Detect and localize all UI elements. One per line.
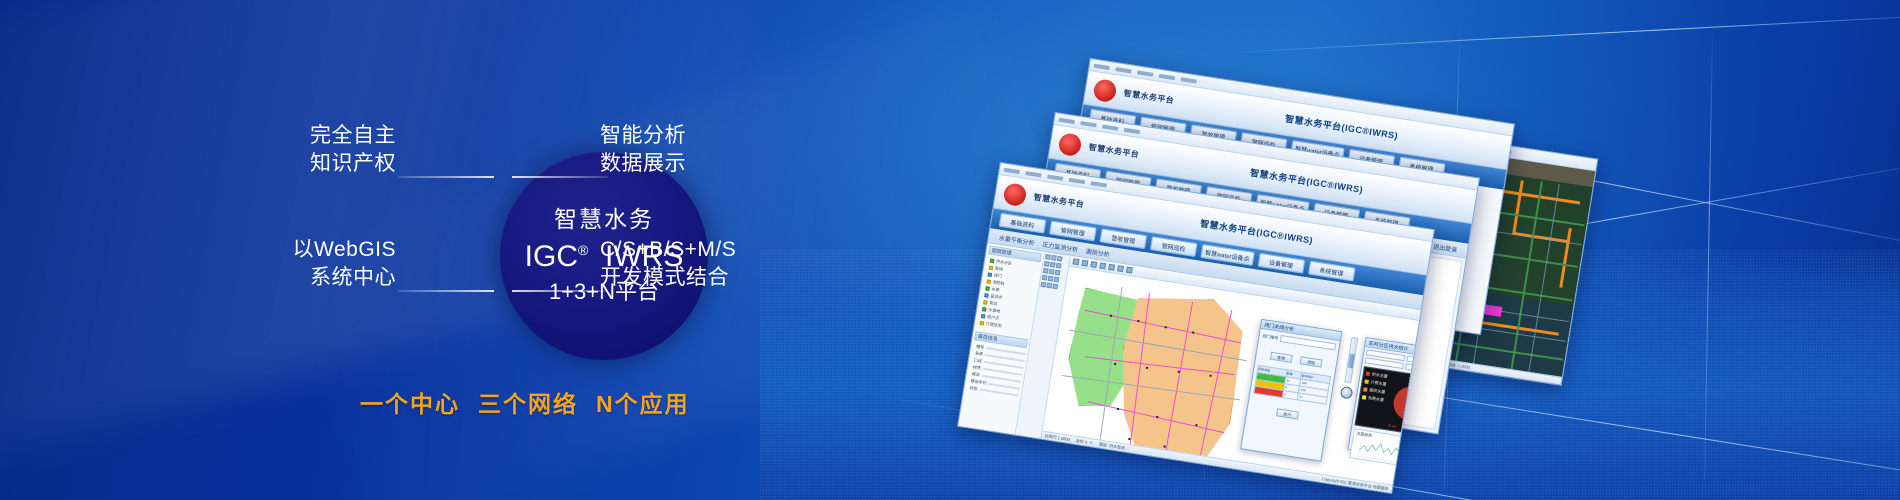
connector-top-left (398, 176, 494, 178)
grid-line-h5 (1230, 15, 1900, 53)
layer-label: 行政区划 (986, 320, 1003, 328)
map-open-icon[interactable] (1081, 260, 1088, 267)
legend-label: 免费水量 (1368, 395, 1385, 403)
zoom-slider-thumb[interactable] (1348, 354, 1355, 369)
map-query-icon[interactable] (1099, 263, 1106, 270)
zoom-in-icon[interactable] (1051, 255, 1057, 261)
legend-swatch (1364, 379, 1369, 384)
mid-brand-name: 智慧水务平台 (1088, 142, 1140, 161)
link-logout[interactable]: 退出登录 (1433, 241, 1458, 254)
spoke-label-bottom-right: C/S+B/S+M/S 开发模式结合 (600, 236, 736, 291)
chart-flow-svg (1350, 437, 1419, 470)
spoke-bottom-right-line2: 开发模式结合 (600, 264, 736, 292)
banner-root: 智慧水务 IGC® IWRS 1+3+N平台 完全自主 知识产权 以WebGIS… (0, 0, 1900, 500)
map-save-icon[interactable] (1090, 261, 1097, 268)
identify-icon[interactable] (1056, 263, 1062, 269)
pan-icon[interactable] (1045, 254, 1051, 260)
layer-swatch-icon (982, 307, 987, 312)
legend-swatch (1363, 387, 1368, 392)
pan-compass-icon[interactable] (1340, 386, 1354, 400)
menu-item-tools[interactable] (1159, 73, 1175, 79)
gauge-left-percent: 45.1% (1388, 423, 1397, 428)
measure-icon[interactable] (1050, 262, 1056, 268)
menu-item-help[interactable] (1181, 77, 1197, 83)
refresh-icon[interactable] (1048, 276, 1054, 282)
map-report-icon[interactable] (1126, 267, 1133, 274)
connector-top-right (512, 176, 608, 178)
legend-swatch (1362, 395, 1367, 400)
layer-swatch-icon (980, 320, 985, 325)
map-node[interactable] (1178, 371, 1180, 373)
satellite-status-zoom: 缩放: 1:2000 (1447, 361, 1470, 370)
connector-bottom-right (512, 290, 608, 292)
spoke-top-left-line2: 知识产权 (236, 150, 396, 178)
front-brand-name: 智慧水务平台 (1033, 192, 1085, 211)
layer-swatch-icon (990, 258, 995, 263)
layer-icon[interactable] (1043, 268, 1049, 274)
map-locate-icon[interactable] (1108, 264, 1115, 271)
map-node[interactable] (1137, 320, 1139, 322)
menu-item-tools[interactable] (1124, 127, 1140, 133)
spoke-top-right-line2: 数据展示 (600, 150, 686, 178)
company-logo-icon (1002, 182, 1027, 207)
map-node[interactable] (1117, 408, 1119, 410)
registered-mark-icon: ® (578, 242, 588, 258)
map-node[interactable] (1146, 367, 1148, 369)
menu-item-file[interactable] (1004, 167, 1020, 173)
menu-item-file[interactable] (1094, 63, 1110, 69)
layer-swatch-icon (983, 300, 988, 305)
hub-title-cn: 智慧水务 (554, 205, 654, 234)
map-new-icon[interactable] (1073, 258, 1080, 265)
map-node[interactable] (1165, 326, 1167, 328)
legend-label: 供水总量 (1371, 371, 1388, 379)
layer-swatch-icon (984, 293, 989, 298)
map-node[interactable] (1156, 416, 1158, 418)
back-brand-name: 智慧水务平台 (1123, 88, 1175, 107)
dialog-execute-button[interactable]: 执行 (1276, 408, 1299, 419)
menu-item-view[interactable] (1047, 174, 1063, 180)
legend-swatch (1366, 371, 1371, 376)
slogan-part-3: N个应用 (596, 391, 690, 417)
menu-item-file[interactable] (1059, 117, 1075, 123)
menu-item-edit[interactable] (1115, 67, 1131, 73)
slogan-part-1: 一个中心 (360, 391, 460, 417)
status-scale: 比例尺 1:5000 (1044, 433, 1070, 443)
map-node[interactable] (1192, 331, 1194, 333)
dialog-clear-button[interactable]: 清除 (1300, 356, 1323, 367)
status-coordinates: 坐标 X: Y: (1075, 437, 1093, 446)
company-logo-icon (1057, 132, 1082, 157)
subnav-item-0[interactable]: 水量平衡分析 (998, 232, 1035, 246)
spoke-top-right-line1: 智能分析 (600, 122, 686, 150)
alarm-icon[interactable] (1052, 284, 1058, 290)
menu-item-view[interactable] (1102, 124, 1118, 130)
menu-item-edit[interactable] (1080, 121, 1096, 127)
layer-swatch-icon (989, 265, 994, 270)
zoom-out-icon[interactable] (1057, 256, 1063, 262)
map-analysis-icon[interactable] (1117, 265, 1124, 272)
route-icon[interactable] (1041, 282, 1047, 288)
bookmark-icon[interactable] (1042, 275, 1048, 281)
slogan-part-2: 三个网络 (478, 391, 578, 417)
spoke-bottom-left-line1: 以WebGIS (236, 236, 396, 264)
subnav-item-1[interactable]: 压力监测分析 (1042, 239, 1079, 253)
menu-item-window[interactable] (1091, 181, 1107, 187)
map-node[interactable] (1110, 315, 1112, 317)
map-node[interactable] (1128, 438, 1130, 440)
menu-item-view[interactable] (1137, 70, 1153, 76)
label-icon[interactable] (1049, 269, 1055, 275)
row-count: 3 (1282, 391, 1298, 400)
tool-group[interactable] (1041, 282, 1065, 290)
spoke-label-top-left: 完全自主 知识产权 (236, 122, 396, 177)
property-label: 状态 (969, 385, 978, 392)
spoke-top-left-line1: 完全自主 (236, 122, 396, 150)
map-node[interactable] (1209, 375, 1211, 377)
company-logo-icon (1092, 78, 1117, 103)
layer-swatch-icon (981, 313, 986, 318)
spoke-label-bottom-left: 以WebGIS 系统中心 (236, 236, 396, 291)
layer-swatch-icon (988, 272, 993, 277)
menu-item-edit[interactable] (1025, 171, 1041, 177)
menu-item-tools[interactable] (1069, 177, 1085, 183)
map-node[interactable] (1195, 424, 1197, 426)
hub-title-en-igc: IGC (525, 240, 578, 273)
spoke-bottom-left-line2: 系统中心 (236, 264, 396, 292)
map-node[interactable] (1163, 445, 1165, 447)
zoom-slider[interactable] (1344, 337, 1358, 383)
spoke-label-top-right: 智能分析 数据展示 (600, 122, 686, 177)
layer-swatch-icon (987, 279, 992, 284)
layer-swatch-icon (985, 286, 990, 291)
grid-line-v2 (1704, 30, 1713, 480)
print-icon[interactable] (1055, 270, 1061, 276)
dialog-search-button[interactable]: 查询 (1270, 352, 1293, 363)
status-layer: 图层: 供水管网 (1099, 441, 1126, 451)
banner-slogan: 一个中心三个网络N个应用 (360, 385, 690, 419)
settings-icon[interactable] (1054, 277, 1060, 283)
valve-analysis-dialog[interactable]: 阀门关阀分析 阀门编号 查询 清除 (1240, 319, 1342, 462)
spoke-bottom-right-line1: C/S+B/S+M/S (600, 236, 736, 264)
map-node[interactable] (1114, 363, 1116, 365)
legend-label: 漏损水量 (1369, 387, 1386, 395)
chart-flow[interactable]: 流量趋势 (1349, 428, 1419, 470)
valve-icon[interactable] (1047, 283, 1053, 289)
subnav-item-2[interactable]: 漏损分析 (1085, 246, 1110, 259)
dialog-input-label: 阀门编号 (1262, 333, 1279, 341)
legend-label: 计费水量 (1370, 379, 1387, 387)
select-icon[interactable] (1044, 261, 1050, 267)
connector-bottom-left (398, 290, 494, 292)
